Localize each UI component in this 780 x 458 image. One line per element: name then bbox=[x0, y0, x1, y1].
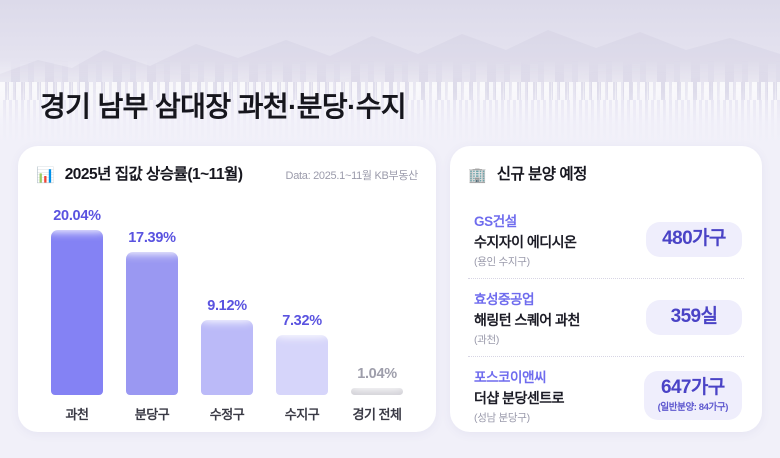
bar-category-label: 수지구 bbox=[285, 404, 319, 423]
new-supply-card: 🏢 신규 분양 예정 GS건설 수지자이 에디시온 (용인 수지구) 480가구 bbox=[450, 146, 762, 432]
cards-container: 📊 2025년 집값 상승률(1~11월) Data: 2025.1~11월 K… bbox=[0, 146, 780, 458]
unit-count-badge: 647가구 (일반분양: 84가구) bbox=[644, 371, 742, 421]
bar-sujeong-gu bbox=[201, 320, 253, 395]
bar-category-label: 경기 전체 bbox=[353, 404, 402, 423]
new-supply-card-title: 신규 분양 예정 bbox=[497, 162, 587, 184]
hero-banner: 경기 남부 삼대장 과천·분당·수지 bbox=[0, 0, 780, 146]
bar-stack: 17.39% bbox=[117, 205, 187, 395]
buildings-icon: 🏢 bbox=[468, 168, 487, 183]
bar-column-suji-gu: 7.32% 수지구 bbox=[267, 205, 337, 423]
page-title: 경기 남부 삼대장 과천·분당·수지 bbox=[40, 85, 406, 125]
project-name: 더샵 분당센트로 bbox=[474, 388, 564, 408]
bar-column-sujeong-gu: 9.12% 수정구 bbox=[192, 205, 262, 423]
price-growth-card-header: 📊 2025년 집값 상승률(1~11월) Data: 2025.1~11월 K… bbox=[36, 162, 418, 193]
bar-category-label: 과천 bbox=[66, 404, 89, 423]
unit-count: 359실 bbox=[660, 307, 728, 328]
unit-count: 480가구 bbox=[660, 229, 728, 250]
bar-value-label: 20.04% bbox=[44, 205, 109, 227]
bar-stack: 7.32% bbox=[267, 205, 337, 395]
bar-suji-gu bbox=[276, 335, 328, 395]
unit-count-note: (일반분양: 84가구) bbox=[658, 399, 728, 413]
unit-count: 647가구 bbox=[658, 378, 728, 399]
listing-info: GS건설 수지자이 에디시온 (용인 수지구) bbox=[474, 210, 576, 269]
list-item[interactable]: GS건설 수지자이 에디시온 (용인 수지구) 480가구 bbox=[468, 201, 744, 279]
bar-gyeonggi-total bbox=[351, 388, 403, 395]
bar-stack: 20.04% bbox=[42, 205, 112, 395]
project-name: 수지자이 에디시온 bbox=[474, 232, 576, 252]
bar-column-gwacheon: 20.04% 과천 bbox=[42, 205, 112, 423]
price-growth-card: 📊 2025년 집값 상승률(1~11월) Data: 2025.1~11월 K… bbox=[18, 146, 436, 432]
price-growth-bar-chart: 20.04% 과천 17.39% 분당구 9.12% bbox=[36, 199, 418, 423]
infographic-root: 경기 남부 삼대장 과천·분당·수지 📊 2025년 집값 상승률(1~11월)… bbox=[0, 0, 780, 458]
bar-column-gyeonggi-total: 1.04% 경기 전체 bbox=[342, 205, 412, 423]
bar-stack: 1.04% bbox=[342, 205, 412, 395]
district-label: (성남 분당구) bbox=[474, 410, 564, 425]
unit-count-badge: 480가구 bbox=[646, 222, 742, 257]
list-item[interactable]: 포스코이앤씨 더샵 분당센트로 (성남 분당구) 647가구 (일반분양: 84… bbox=[468, 357, 744, 434]
bar-column-bundang-gu: 17.39% 분당구 bbox=[117, 205, 187, 423]
district-label: (과천) bbox=[474, 332, 580, 347]
project-name: 해링턴 스퀘어 과천 bbox=[474, 310, 580, 330]
bar-gwacheon bbox=[51, 230, 103, 395]
builder-name: GS건설 bbox=[474, 210, 576, 230]
new-supply-card-header: 🏢 신규 분양 예정 bbox=[468, 162, 744, 193]
bar-chart-icon: 📊 bbox=[36, 168, 55, 183]
new-supply-list: GS건설 수지자이 에디시온 (용인 수지구) 480가구 효성중공업 해링턴 … bbox=[468, 199, 744, 434]
unit-count-badge: 359실 bbox=[646, 300, 742, 335]
bar-stack: 9.12% bbox=[192, 205, 262, 395]
listing-info: 효성중공업 해링턴 스퀘어 과천 (과천) bbox=[474, 288, 580, 347]
bar-category-label: 분당구 bbox=[135, 404, 169, 423]
bar-bundang-gu bbox=[126, 252, 178, 395]
builder-name: 포스코이앤씨 bbox=[474, 366, 564, 386]
builder-name: 효성중공업 bbox=[474, 288, 580, 308]
price-growth-card-title: 2025년 집값 상승률(1~11월) bbox=[65, 162, 243, 184]
bar-value-label: 7.32% bbox=[273, 310, 331, 332]
bar-value-label: 17.39% bbox=[119, 227, 184, 249]
bar-value-label: 1.04% bbox=[348, 363, 406, 385]
price-growth-data-source: Data: 2025.1~11월 KB부동산 bbox=[286, 167, 418, 183]
list-item[interactable]: 효성중공업 해링턴 스퀘어 과천 (과천) 359실 bbox=[468, 279, 744, 357]
listing-info: 포스코이앤씨 더샵 분당센트로 (성남 분당구) bbox=[474, 366, 564, 425]
bar-value-label: 9.12% bbox=[198, 295, 256, 317]
district-label: (용인 수지구) bbox=[474, 254, 576, 269]
bar-category-label: 수정구 bbox=[210, 404, 244, 423]
